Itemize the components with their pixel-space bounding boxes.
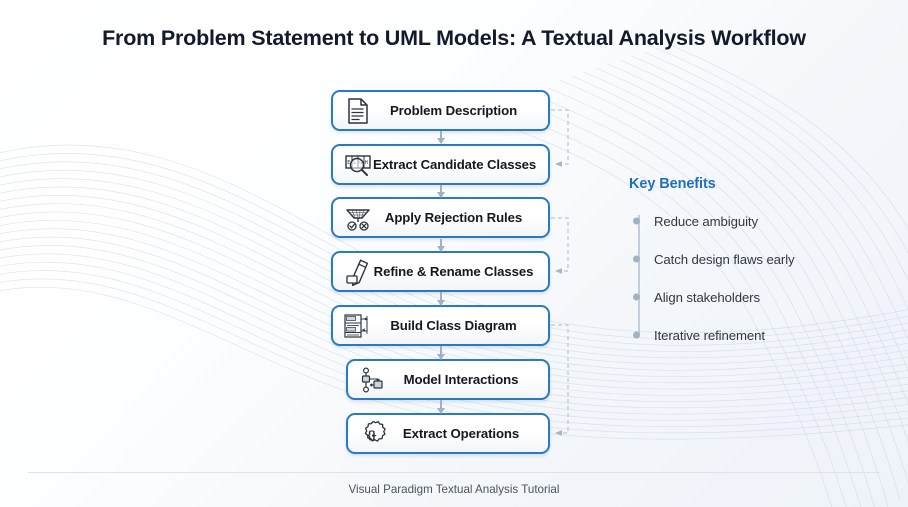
flow-step-label: Apply Rejection Rules [373, 210, 540, 225]
svg-text:H: H [365, 160, 368, 166]
filter-sieve-icon [343, 203, 373, 233]
benefit-item-catch-design-flaws-early: Catch design flaws early [654, 245, 879, 273]
flow-step-build-class-diagram[interactable]: Build Class Diagram [331, 305, 550, 346]
flow-step-label: Build Class Diagram [373, 318, 540, 333]
interaction-nodes-icon [358, 365, 388, 395]
flow-step-apply-rejection-rules[interactable]: Apply Rejection Rules [331, 197, 550, 238]
flow-step-label: Extract Candidate Classes [373, 157, 542, 172]
bullet-dot-icon [633, 256, 640, 263]
benefit-item-align-stakeholders: Align stakeholders [654, 283, 879, 311]
magnifier-text-icon: ELfGH [343, 150, 373, 180]
class-diagram-icon [343, 311, 373, 341]
document-icon [343, 96, 373, 126]
gear-braces-icon: { } [358, 419, 388, 449]
flow-connector-2 [440, 185, 442, 197]
flow-step-refine-rename-classes[interactable]: Refine & Rename Classes [331, 251, 550, 292]
footer-divider [28, 472, 880, 473]
flow-connector-5 [440, 346, 442, 359]
flow-step-label: Model Interactions [388, 372, 540, 387]
flow-step-extract-operations[interactable]: { } Extract Operations [346, 413, 550, 454]
page-title: From Problem Statement to UML Models: A … [0, 26, 908, 51]
flow-connector-6 [440, 400, 442, 413]
flow-step-extract-candidate-classes[interactable]: ELfGH Extract Candidate Classes [331, 144, 550, 185]
key-benefits-heading: Key Benefits [629, 176, 879, 192]
benefit-label: Iterative refinement [654, 328, 765, 343]
key-benefits-list: Reduce ambiguity Catch design flaws earl… [629, 207, 879, 349]
flow-step-label: Problem Description [373, 103, 540, 118]
footer-caption: Visual Paradigm Textual Analysis Tutoria… [0, 483, 908, 496]
flow-step-label: Extract Operations [388, 426, 540, 441]
bullet-dot-icon [633, 294, 640, 301]
pencil-edit-icon [343, 257, 373, 287]
slide-canvas: From Problem Statement to UML Models: A … [0, 0, 908, 507]
key-benefits-panel: Key Benefits Reduce ambiguity Catch desi… [629, 176, 879, 349]
benefit-label: Align stakeholders [654, 290, 760, 305]
flow-step-problem-description[interactable]: Problem Description [331, 90, 550, 131]
benefits-spine-line [638, 215, 640, 335]
flow-connector-3 [440, 239, 442, 251]
benefit-item-iterative-refinement: Iterative refinement [654, 321, 879, 349]
benefit-label: Catch design flaws early [654, 252, 795, 267]
benefit-item-reduce-ambiguity: Reduce ambiguity [654, 207, 879, 235]
bullet-dot-icon [633, 218, 640, 225]
flow-step-label: Refine & Rename Classes [373, 264, 540, 279]
flow-connector-4 [440, 292, 442, 305]
benefit-label: Reduce ambiguity [654, 214, 758, 229]
bullet-dot-icon [633, 332, 640, 339]
flow-step-model-interactions[interactable]: Model Interactions [346, 359, 550, 400]
flow-connector-1 [440, 131, 442, 143]
